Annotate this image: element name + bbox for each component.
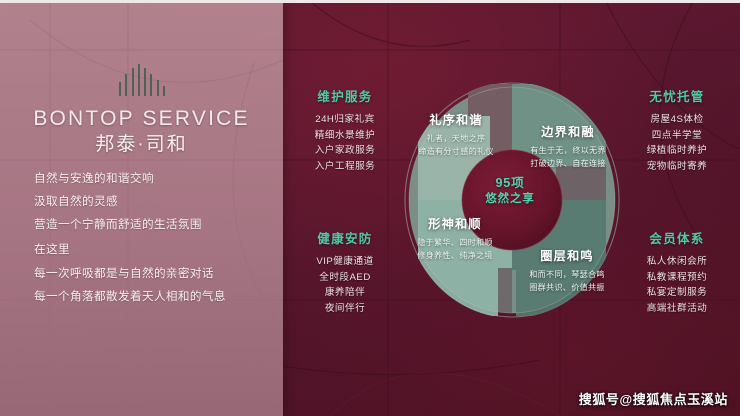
brand-name-en: BONTOP SERVICE (0, 108, 283, 129)
top-frame-strip (0, 0, 740, 3)
service-item: 四点半学堂 (627, 128, 727, 144)
service-item: 宠物临时寄养 (627, 159, 727, 175)
service-column-custody: 无忧托管 房屋4S体检 四点半学堂 绿植临时养护 宠物临时寄养 (627, 86, 727, 174)
quadrant-line: 和而不同，琴瑟合鸣 (514, 269, 620, 282)
brand-name-cn: 邦泰·司和 (0, 135, 283, 154)
slide-canvas: BONTOP SERVICE 邦泰·司和 自然与安逸的和谐交响 汲取自然的灵感 … (0, 0, 740, 416)
service-item: 高端社群活动 (627, 301, 727, 317)
brand-copy-line: 每一个角落都散发着天人相和的气息 (34, 290, 274, 304)
core-subtitle: 悠然之享 (463, 192, 557, 207)
core-count: 95项 (463, 176, 557, 192)
service-column-title: 会员体系 (627, 228, 727, 247)
quadrant-bottom-left: 形神和顺 隐于繁华、四时和顺 修身养性、纯净之境 (402, 214, 508, 263)
service-item: 精细水景维护 (295, 128, 395, 144)
diagram-core-label: 95项 悠然之享 (463, 176, 557, 207)
service-item: VIP健康通道 (295, 254, 395, 270)
service-column-title: 健康安防 (295, 228, 395, 247)
quadrant-line: 缔造有分寸感的礼仪 (404, 146, 508, 159)
service-item: 房屋4S体检 (627, 112, 727, 128)
brand-copy-line: 每一次呼吸都是与自然的亲密对话 (34, 267, 274, 281)
brand-panel: BONTOP SERVICE 邦泰·司和 自然与安逸的和谐交响 汲取自然的灵感 … (0, 0, 283, 416)
service-item: 绿植临时养护 (627, 143, 727, 159)
quadrant-top-left: 礼序和谐 礼者，天地之序 缔造有分寸感的礼仪 (404, 110, 508, 159)
quadrant-bottom-right: 圈层和鸣 和而不同，琴瑟合鸣 圈群共识、价值共振 (514, 246, 620, 295)
service-item: 夜间伴行 (295, 301, 395, 317)
quadrant-line: 修身养性、纯净之境 (402, 250, 508, 263)
service-column-member: 会员体系 私人休闲会所 私教课程预约 私宴定制服务 高端社群活动 (627, 228, 727, 316)
quadrant-title: 边界和融 (515, 122, 621, 140)
service-item: 24H归家礼宾 (295, 112, 395, 128)
brand-copy-line: 汲取自然的灵感 (34, 195, 274, 209)
service-column-title: 无忧托管 (627, 86, 727, 105)
service-column-title: 维护服务 (295, 86, 395, 105)
service-item: 私宴定制服务 (627, 285, 727, 301)
quadrant-title: 形神和顺 (402, 214, 508, 232)
service-item: 私人休闲会所 (627, 254, 727, 270)
service-item: 私教课程预约 (627, 270, 727, 286)
quadrant-title: 圈层和鸣 (514, 246, 620, 264)
quadrant-line: 圈群共识、价值共振 (514, 282, 620, 295)
watermark-text: 搜狐号@搜狐焦点玉溪站 (579, 389, 728, 408)
quadrant-line: 礼者，天地之序 (404, 133, 508, 146)
brand-copy-line: 营造一个宁静而舒适的生活氛围 (34, 218, 274, 232)
service-item: 全时段AED (295, 270, 395, 286)
brand-copy-line: 在这里 (34, 243, 274, 257)
quadrant-line: 隐于繁华、四时和顺 (402, 237, 508, 250)
quadrant-title: 礼序和谐 (404, 110, 508, 128)
decorative-bars-ornament (119, 64, 165, 96)
quadrant-line: 打破边界、自在连接 (515, 158, 621, 171)
service-item: 康养陪伴 (295, 285, 395, 301)
brand-copy-block: 自然与安逸的和谐交响 汲取自然的灵感 营造一个宁静而舒适的生活氛围 在这里 每一… (34, 172, 274, 313)
service-item: 入户工程服务 (295, 159, 395, 175)
brand-copy-line: 自然与安逸的和谐交响 (34, 172, 274, 186)
quadrant-top-right: 边界和融 有生于无，终以无界 打破边界、自在连接 (515, 122, 621, 171)
service-column-maintenance: 维护服务 24H归家礼宾 精细水景维护 入户家政服务 入户工程服务 (295, 86, 395, 174)
service-item: 入户家政服务 (295, 143, 395, 159)
quadrant-line: 有生于无，终以无界 (515, 145, 621, 158)
service-column-health: 健康安防 VIP健康通道 全时段AED 康养陪伴 夜间伴行 (295, 228, 395, 316)
